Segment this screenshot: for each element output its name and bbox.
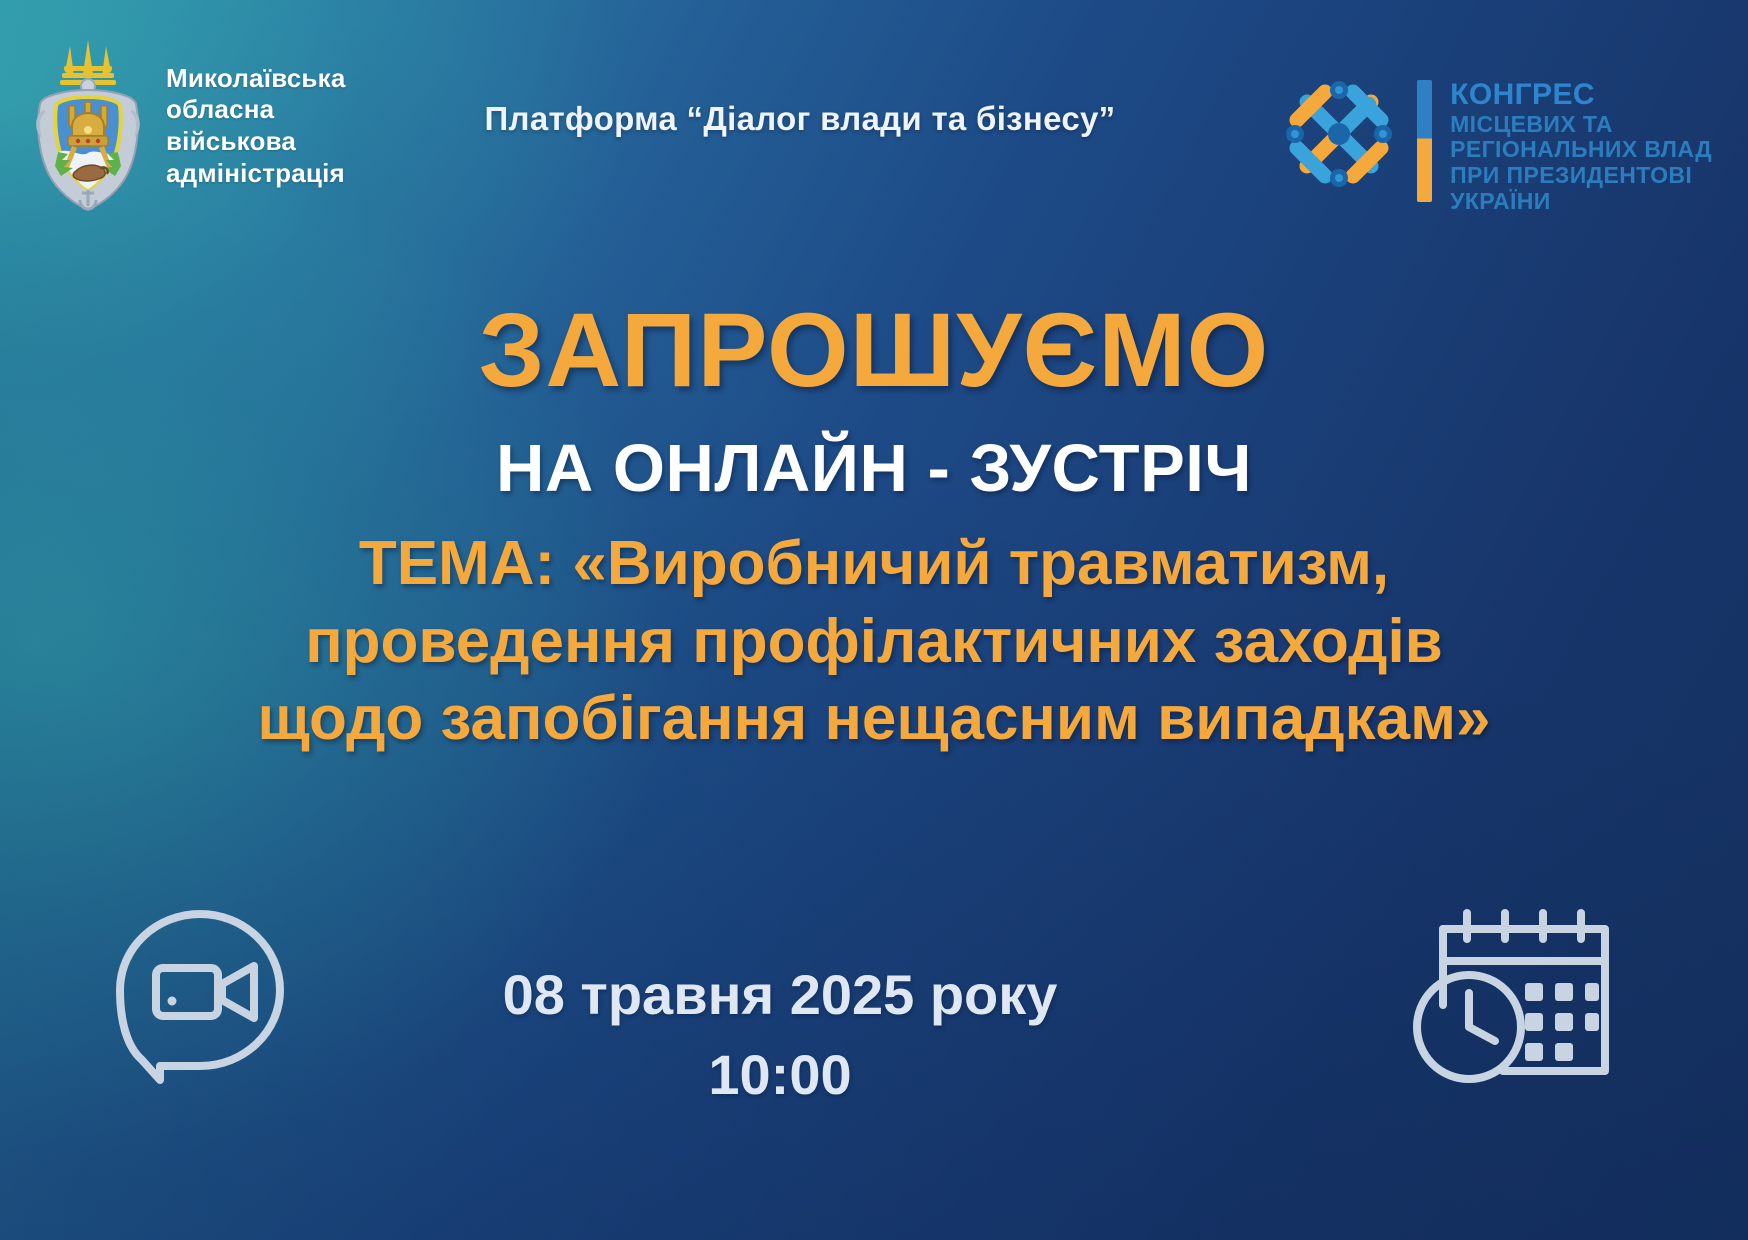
platform-title: Платформа “Діалог влади та бізнесу” xyxy=(430,100,1170,138)
congress-divider-bar xyxy=(1417,80,1432,202)
video-chat-bubble-icon xyxy=(108,900,293,1090)
administration-logo-block: Миколаївська обласна військова адміністр… xyxy=(24,40,346,212)
event-time: 10:00 xyxy=(380,1035,1180,1115)
administration-line-2: обласна xyxy=(166,94,346,126)
topic-block: ТЕМА: «Виробничий травматизм, проведення… xyxy=(90,525,1658,758)
invitation-poster: Миколаївська обласна військова адміністр… xyxy=(0,0,1748,1240)
mykolaiv-coat-of-arms-icon xyxy=(24,40,152,212)
administration-name: Миколаївська обласна військова адміністр… xyxy=(166,63,346,190)
congress-logo-block: КОНГРЕС МІСЦЕВИХ ТА РЕГІОНАЛЬНИХ ВЛАД ПР… xyxy=(1273,68,1712,215)
invite-heading: ЗАПРОШУЄМО xyxy=(0,298,1748,403)
congress-line-4: ПРИ ПРЕЗИДЕНТОВІ xyxy=(1450,163,1712,189)
topic-line-3: щодо запобігання нещасним випадкам» xyxy=(90,680,1658,758)
administration-line-1: Миколаївська xyxy=(166,63,346,95)
congress-name: КОНГРЕС МІСЦЕВИХ ТА РЕГІОНАЛЬНИХ ВЛАД ПР… xyxy=(1450,68,1712,215)
administration-line-3: військова xyxy=(166,126,346,158)
calendar-clock-icon xyxy=(1407,905,1622,1095)
congress-line-1: КОНГРЕС xyxy=(1450,78,1712,112)
invite-subheading: НА ОНЛАЙН - ЗУСТРІЧ xyxy=(0,435,1748,502)
poster-header: Миколаївська обласна військова адміністр… xyxy=(0,0,1748,240)
administration-line-4: адміністрація xyxy=(166,158,346,190)
congress-flower-icon xyxy=(1273,68,1405,205)
congress-line-5: УКРАЇНИ xyxy=(1450,189,1712,215)
event-date: 08 травня 2025 року xyxy=(380,955,1180,1035)
congress-line-3: РЕГІОНАЛЬНИХ ВЛАД xyxy=(1450,137,1712,163)
event-datetime: 08 травня 2025 року 10:00 xyxy=(380,955,1180,1114)
topic-line-2: проведення профілактичних заходів xyxy=(90,603,1658,681)
topic-line-1: ТЕМА: «Виробничий травматизм, xyxy=(90,525,1658,603)
congress-line-2: МІСЦЕВИХ ТА xyxy=(1450,112,1712,138)
